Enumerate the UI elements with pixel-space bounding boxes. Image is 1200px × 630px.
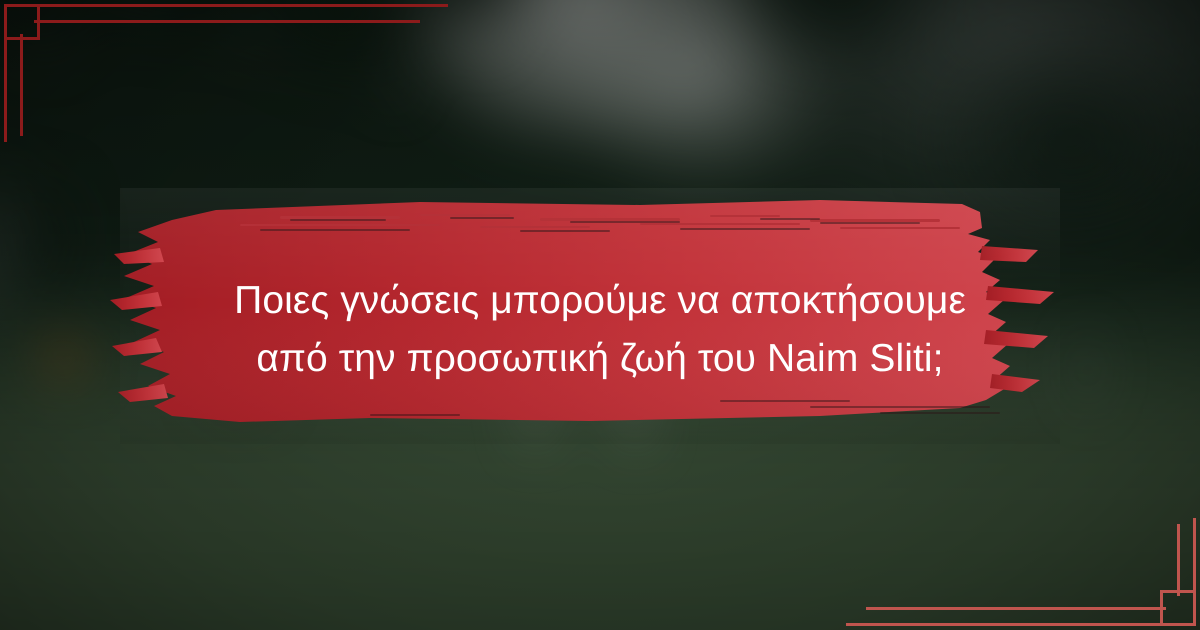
- corner-line-horizontal-outer: [846, 623, 1176, 626]
- corner-line-horizontal-outer: [24, 4, 448, 7]
- corner-line-horizontal-inner: [34, 20, 420, 23]
- headline-line-1: Ποιες γνώσεις μπορούμε να αποκτήσουμε: [150, 272, 1050, 330]
- corner-line-vertical-inner: [20, 34, 23, 136]
- headline-line-2: από την προσωπική ζωή του Naim Sliti;: [150, 330, 1050, 388]
- headline: Ποιες γνώσεις μπορούμε να αποκτήσουμε απ…: [150, 272, 1050, 388]
- corner-line-horizontal-inner: [866, 607, 1166, 610]
- corner-line-vertical-inner: [1177, 524, 1180, 596]
- corner-ornament-bottom-right: [1040, 530, 1200, 630]
- corner-line-vertical-outer: [4, 24, 7, 142]
- social-share-card: Ποιες γνώσεις μπορούμε να αποκτήσουμε απ…: [0, 0, 1200, 630]
- corner-line-vertical-outer: [1193, 518, 1196, 606]
- corner-ornament-top-left: [0, 0, 160, 100]
